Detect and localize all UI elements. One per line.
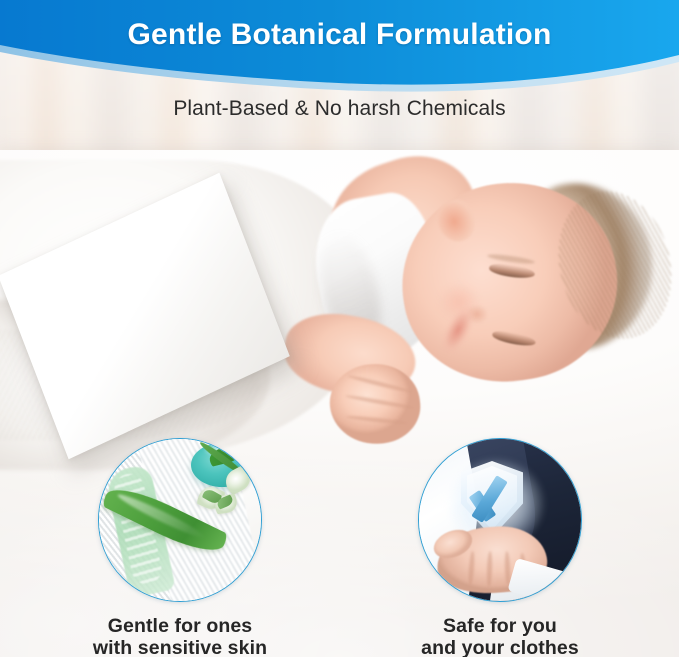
feature-caption: Gentle for ones with sensitive skin <box>50 616 310 657</box>
caption-line-1: Safe for you <box>443 615 557 637</box>
page-title: Gentle Botanical Formulation <box>0 18 679 52</box>
caption-line-2: with sensitive skin <box>50 638 310 657</box>
aloe-vera-towel-icon <box>98 438 262 602</box>
feature-safe-for-clothes: Safe for you and your clothes <box>370 438 630 657</box>
shield-check-hand-icon <box>418 438 582 602</box>
header-banner: Gentle Botanical Formulation <box>0 0 679 96</box>
feature-sensitive-skin: Gentle for ones with sensitive skin <box>50 438 310 657</box>
caption-line-1: Gentle for ones <box>108 615 253 637</box>
product-feature-banner: Gentle Botanical Formulation Plant-Based… <box>0 0 679 657</box>
subtitle: Plant-Based & No harsh Chemicals <box>0 97 679 121</box>
caption-line-2: and your clothes <box>370 638 630 657</box>
feature-caption: Safe for you and your clothes <box>370 616 630 657</box>
